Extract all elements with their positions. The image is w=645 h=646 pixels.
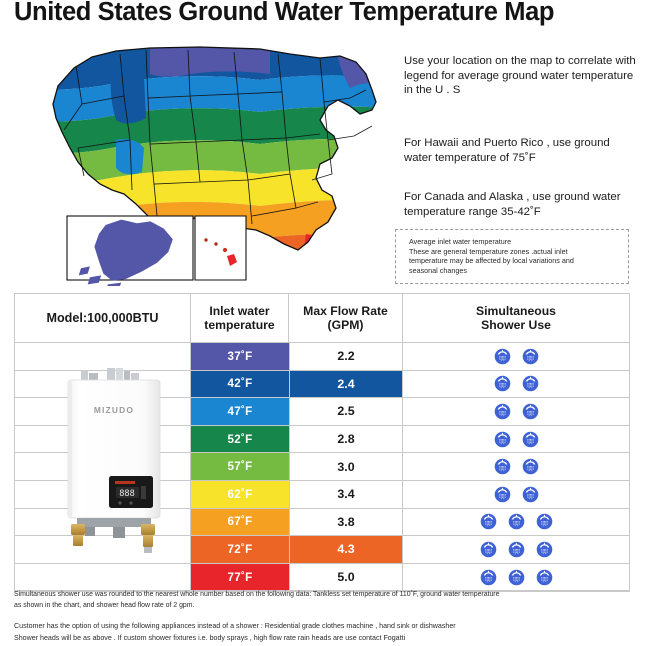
cell-inlet-temperature: 62˚F: [191, 481, 289, 508]
heater-brand-label: MIZUDO: [94, 405, 134, 415]
header-max-flow-rate: Max Flow Rate (GPM): [289, 294, 403, 342]
header-flow-line1: Max Flow Rate: [303, 304, 388, 318]
footnote-appliance-options: Customer has the option of using the fol…: [14, 621, 634, 644]
note-line-3: temperature may be affected by local var…: [409, 256, 619, 266]
header-simultaneous-shower-use: Simultaneous Shower Use: [403, 294, 629, 342]
shower-icon: [522, 403, 539, 420]
note-line-2: These are general temperature zones .act…: [409, 247, 619, 257]
cell-max-flow-rate: 3.8: [289, 509, 403, 536]
shower-icon: [536, 541, 553, 558]
shower-icon: [522, 431, 539, 448]
shower-icon: [494, 348, 511, 365]
shower-icon: [536, 569, 553, 586]
alaska-inset: [67, 216, 193, 286]
footnote-a-line2: as shown in the chart, and shower head f…: [14, 600, 634, 611]
footnote-b-line1: Customer has the option of using the fol…: [14, 621, 634, 633]
cell-inlet-temperature: 72˚F: [191, 536, 289, 563]
shower-icon: [494, 458, 511, 475]
shower-icon: [480, 513, 497, 530]
cell-simultaneous-showers: [403, 564, 629, 591]
table-header-row: Model:100,000BTU Inlet water temperature…: [15, 294, 629, 343]
info-block-canada: For Canada and Alaska , use ground water…: [404, 190, 636, 219]
info-usage-text: Use your location on the map to correlat…: [404, 54, 636, 98]
header-flow-line2: (GPM): [303, 318, 388, 332]
cell-simultaneous-showers: [403, 536, 629, 563]
cell-simultaneous-showers: [403, 398, 629, 425]
cell-max-flow-rate: 4.3: [289, 536, 403, 563]
cell-max-flow-rate: 2.5: [289, 398, 403, 425]
footnote-b-line2: Shower heads will be as above . If custo…: [14, 633, 634, 645]
shower-icon: [494, 431, 511, 448]
header-inlet-line2: temperature: [204, 318, 274, 332]
footnote-shower-rounding: Simultaneous shower use was rounded to t…: [14, 589, 634, 611]
cell-inlet-temperature: 37˚F: [191, 343, 289, 370]
note-line-4: seasonal changes: [409, 266, 619, 276]
info-block-hawaii: For Hawaii and Puerto Rico , use ground …: [404, 136, 636, 165]
table-body: 37˚F2.242˚F2.447˚F2.552˚F2.857˚F3.062˚F3…: [15, 343, 629, 591]
header-model: Model:100,000BTU: [15, 294, 191, 342]
shower-icon: [522, 458, 539, 475]
cell-max-flow-rate: 2.8: [289, 426, 403, 453]
cell-simultaneous-showers: [403, 426, 629, 453]
cell-max-flow-rate: 2.2: [289, 343, 403, 370]
header-showers-line2: Shower Use: [476, 318, 556, 332]
average-inlet-note-box: Average inlet water temperature These ar…: [395, 229, 629, 284]
cell-max-flow-rate: 2.4: [289, 371, 403, 398]
cell-simultaneous-showers: [403, 371, 629, 398]
info-block-usage: Use your location on the map to correlat…: [404, 54, 636, 98]
cell-simultaneous-showers: [403, 509, 629, 536]
footnote-a-line1: Simultaneous shower use was rounded to t…: [14, 589, 634, 600]
cell-inlet-temperature: 47˚F: [191, 398, 289, 425]
shower-icon: [522, 375, 539, 392]
shower-icon: [508, 569, 525, 586]
shower-icon: [494, 403, 511, 420]
cell-simultaneous-showers: [403, 453, 629, 480]
shower-icon: [522, 486, 539, 503]
cell-inlet-temperature: 77˚F: [191, 564, 289, 591]
cell-simultaneous-showers: [403, 343, 629, 370]
cell-max-flow-rate: 5.0: [289, 564, 403, 591]
temperature-flow-table: Model:100,000BTU Inlet water temperature…: [14, 293, 630, 592]
shower-icon: [494, 486, 511, 503]
shower-icon: [494, 375, 511, 392]
tankless-water-heater-image: MIZUDO 888: [51, 364, 183, 571]
page-title: United States Ground Water Temperature M…: [14, 0, 554, 27]
shower-icon: [536, 513, 553, 530]
groundwater-temperature-infographic: United States Ground Water Temperature M…: [0, 0, 645, 646]
note-line-1: Average inlet water temperature: [409, 237, 619, 247]
cell-simultaneous-showers: [403, 481, 629, 508]
info-canada-text: For Canada and Alaska , use ground water…: [404, 190, 636, 219]
cell-max-flow-rate: 3.4: [289, 481, 403, 508]
cell-inlet-temperature: 57˚F: [191, 453, 289, 480]
cell-inlet-temperature: 42˚F: [191, 371, 289, 398]
shower-icon: [480, 541, 497, 558]
heater-display-value: 888: [119, 489, 135, 499]
shower-icon: [508, 541, 525, 558]
header-inlet-temperature: Inlet water temperature: [191, 294, 289, 342]
shower-icon: [508, 513, 525, 530]
cell-inlet-temperature: 67˚F: [191, 509, 289, 536]
cell-max-flow-rate: 3.0: [289, 453, 403, 480]
shower-icon: [480, 569, 497, 586]
us-groundwater-temperature-map: [20, 44, 392, 286]
header-inlet-line1: Inlet water: [204, 304, 274, 318]
header-showers-line1: Simultaneous: [476, 304, 556, 318]
shower-icon: [522, 348, 539, 365]
hawaii-inset: [195, 216, 246, 280]
cell-inlet-temperature: 52˚F: [191, 426, 289, 453]
info-hawaii-text: For Hawaii and Puerto Rico , use ground …: [404, 136, 636, 165]
